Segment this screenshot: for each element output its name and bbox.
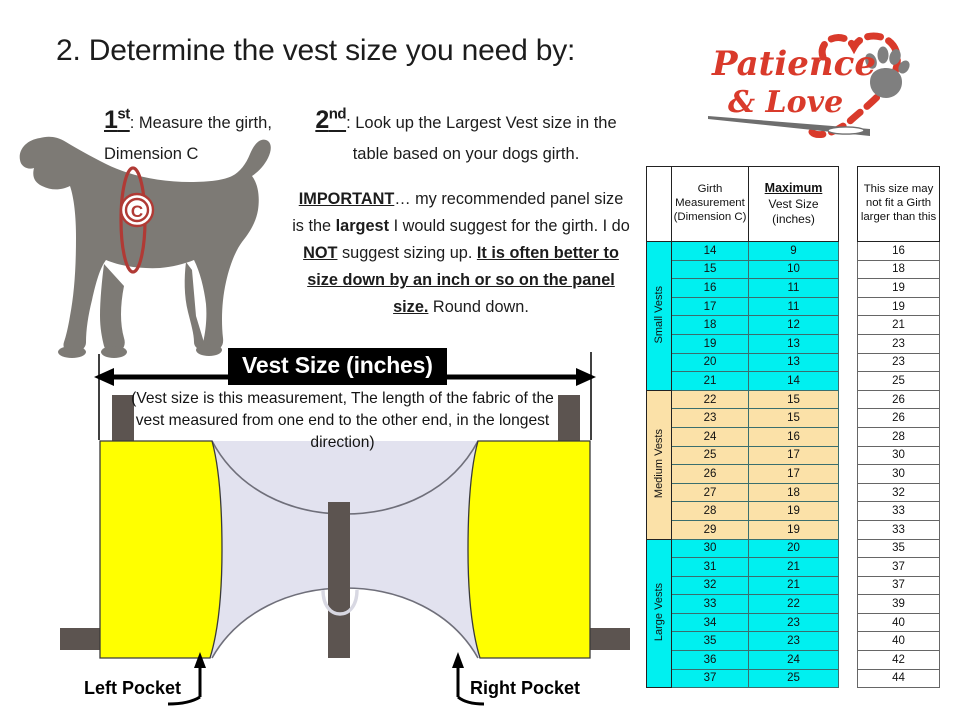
table-row[interactable]: 201323 — [647, 353, 940, 372]
table-row[interactable]: 342340 — [647, 613, 940, 632]
vest-category-large-vests: Large Vests — [647, 539, 672, 688]
logo-text-line-1: Patience — [711, 44, 876, 84]
vest-category-medium-vests: Medium Vests — [647, 390, 672, 539]
cell-vest-size: 19 — [749, 520, 839, 539]
cell-girth: 14 — [672, 242, 749, 261]
dimension-c-badge: C — [121, 194, 153, 226]
cell-girth: 17 — [672, 297, 749, 316]
vest-center-strap — [328, 502, 350, 658]
cell-vest-size: 16 — [749, 427, 839, 446]
cell-girth: 31 — [672, 558, 749, 577]
page-title: 2. Determine the vest size you need by: — [56, 34, 575, 68]
cell-girth: 23 — [672, 409, 749, 428]
vest-size-note: (Vest size is this measurement, The leng… — [130, 388, 555, 454]
cell-spacer — [839, 409, 858, 428]
cell-girth: 35 — [672, 632, 749, 651]
table-row[interactable]: 181221 — [647, 316, 940, 335]
cell-girth: 15 — [672, 260, 749, 279]
cell-vest-size: 13 — [749, 334, 839, 353]
table-row[interactable]: Medium Vests221526 — [647, 390, 940, 409]
cell-spacer — [839, 427, 858, 446]
cell-girth: 32 — [672, 576, 749, 595]
cell-vest-size: 18 — [749, 483, 839, 502]
table-row[interactable]: 322137 — [647, 576, 940, 595]
table-row[interactable]: 271832 — [647, 483, 940, 502]
cell-spacer — [839, 242, 858, 261]
table-row[interactable]: 211425 — [647, 372, 940, 391]
cell-max-girth: 26 — [858, 409, 940, 428]
cell-girth: 36 — [672, 651, 749, 670]
cell-girth: 28 — [672, 502, 749, 521]
cell-spacer — [839, 632, 858, 651]
table-row[interactable]: 291933 — [647, 520, 940, 539]
cell-max-girth: 40 — [858, 613, 940, 632]
header-category — [647, 167, 672, 242]
cell-vest-size: 23 — [749, 613, 839, 632]
cell-vest-size: 10 — [749, 260, 839, 279]
cell-vest-size: 21 — [749, 558, 839, 577]
cell-vest-size: 11 — [749, 279, 839, 298]
vest-right-panel — [468, 441, 590, 658]
cell-vest-size: 23 — [749, 632, 839, 651]
cell-girth: 34 — [672, 613, 749, 632]
cell-girth: 37 — [672, 669, 749, 688]
cell-spacer — [839, 651, 858, 670]
table-header-row: Girth Measurement (Dimension C)MaximumVe… — [647, 167, 940, 242]
cell-spacer — [839, 353, 858, 372]
cell-max-girth: 18 — [858, 260, 940, 279]
category-label: Large Vests — [653, 583, 665, 641]
table-row[interactable]: 161119 — [647, 279, 940, 298]
cell-max-girth: 30 — [858, 446, 940, 465]
cell-max-girth: 30 — [858, 465, 940, 484]
cell-max-girth: 26 — [858, 390, 940, 409]
cell-max-girth: 19 — [858, 297, 940, 316]
cell-max-girth: 25 — [858, 372, 940, 391]
cell-spacer — [839, 465, 858, 484]
cell-max-girth: 44 — [858, 669, 940, 688]
cell-vest-size: 24 — [749, 651, 839, 670]
table-row[interactable]: Small Vests14916 — [647, 242, 940, 261]
table-row[interactable]: 261730 — [647, 465, 940, 484]
vest-size-banner: Vest Size (inches) — [228, 348, 447, 385]
cell-spacer — [839, 520, 858, 539]
sizing-table-container: Girth Measurement (Dimension C)MaximumVe… — [646, 166, 940, 688]
cell-vest-size: 19 — [749, 502, 839, 521]
header-maximum-word: Maximum — [749, 181, 838, 197]
table-row[interactable]: 151018 — [647, 260, 940, 279]
cell-girth: 25 — [672, 446, 749, 465]
table-row[interactable]: 352340 — [647, 632, 940, 651]
cell-max-girth: 35 — [858, 539, 940, 558]
cell-max-girth: 21 — [858, 316, 940, 335]
cell-spacer — [839, 260, 858, 279]
cell-spacer — [839, 446, 858, 465]
cell-max-girth: 40 — [858, 632, 940, 651]
logo-text-line-2: & Love — [728, 85, 843, 120]
cell-spacer — [839, 539, 858, 558]
cell-girth: 19 — [672, 334, 749, 353]
category-label: Medium Vests — [653, 429, 665, 498]
cell-girth: 27 — [672, 483, 749, 502]
table-row[interactable]: 332239 — [647, 595, 940, 614]
cell-girth: 20 — [672, 353, 749, 372]
cell-vest-size: 15 — [749, 409, 839, 428]
vest-category-small-vests: Small Vests — [647, 242, 672, 391]
cell-vest-size: 21 — [749, 576, 839, 595]
cell-girth: 24 — [672, 427, 749, 446]
slide-canvas: 2. Determine the vest size you need by: … — [0, 0, 960, 720]
strap-bottom-right — [584, 628, 630, 650]
cell-spacer — [839, 297, 858, 316]
cell-max-girth: 23 — [858, 353, 940, 372]
cell-vest-size: 14 — [749, 372, 839, 391]
cell-max-girth: 19 — [858, 279, 940, 298]
cell-vest-size: 12 — [749, 316, 839, 335]
cell-max-girth: 33 — [858, 502, 940, 521]
important-largest: largest — [336, 217, 389, 235]
brand-logo: Patience & Love Patience & Love — [694, 20, 944, 140]
cell-girth: 29 — [672, 520, 749, 539]
header-girth-limit-note: This size may not fit a Girth larger tha… — [858, 167, 940, 242]
table-row[interactable]: 312137 — [647, 558, 940, 577]
cell-max-girth: 37 — [858, 558, 940, 577]
cell-spacer — [839, 390, 858, 409]
cell-max-girth: 32 — [858, 483, 940, 502]
table-row[interactable]: 241628 — [647, 427, 940, 446]
left-pocket-label: Left Pocket — [84, 678, 181, 699]
important-line-2: I would suggest for the girth. I do — [389, 217, 630, 235]
cell-max-girth: 28 — [858, 427, 940, 446]
sizing-table: Girth Measurement (Dimension C)MaximumVe… — [646, 166, 940, 688]
cell-vest-size: 20 — [749, 539, 839, 558]
important-lead: IMPORTANT — [299, 190, 395, 208]
cell-max-girth: 37 — [858, 576, 940, 595]
step-2-text: : Look up the Largest Vest size in the t… — [346, 114, 617, 163]
table-row[interactable]: 231526 — [647, 409, 940, 428]
cell-vest-size: 9 — [749, 242, 839, 261]
important-note: IMPORTANT… my recommended panel size is … — [292, 186, 630, 321]
cell-spacer — [839, 316, 858, 335]
table-row[interactable]: Large Vests302035 — [647, 539, 940, 558]
svg-text:C: C — [131, 202, 143, 221]
right-pocket-label: Right Pocket — [470, 678, 580, 699]
strap-tab-top-right — [558, 395, 580, 441]
header-vest-size-text: Vest Size (inches) — [749, 197, 838, 227]
cell-max-girth: 39 — [858, 595, 940, 614]
table-row[interactable]: 171119 — [647, 297, 940, 316]
table-row[interactable]: 191323 — [647, 334, 940, 353]
table-row[interactable]: 251730 — [647, 446, 940, 465]
cell-spacer — [839, 669, 858, 688]
header-girth-measurement: Girth Measurement (Dimension C) — [672, 167, 749, 242]
cell-vest-size: 15 — [749, 390, 839, 409]
header-spacer — [839, 167, 858, 242]
important-line-3: suggest sizing up. — [337, 244, 476, 262]
cell-vest-size: 22 — [749, 595, 839, 614]
cell-max-girth: 42 — [858, 651, 940, 670]
cell-vest-size: 17 — [749, 465, 839, 484]
cell-spacer — [839, 502, 858, 521]
step-2-instruction: 2nd: Look up the Largest Vest size in th… — [296, 100, 636, 168]
cell-girth: 22 — [672, 390, 749, 409]
cell-vest-size: 17 — [749, 446, 839, 465]
cell-girth: 18 — [672, 316, 749, 335]
cell-girth: 21 — [672, 372, 749, 391]
cell-max-girth: 23 — [858, 334, 940, 353]
important-line-4: Round down. — [428, 298, 528, 316]
dog-body-shape — [20, 137, 271, 353]
table-row[interactable]: 372544 — [647, 669, 940, 688]
vest-left-panel — [100, 441, 222, 658]
cell-spacer — [839, 483, 858, 502]
cell-girth: 33 — [672, 595, 749, 614]
table-row[interactable]: 281933 — [647, 502, 940, 521]
cell-vest-size: 25 — [749, 669, 839, 688]
cell-spacer — [839, 613, 858, 632]
cell-girth: 26 — [672, 465, 749, 484]
category-label: Small Vests — [653, 286, 665, 343]
cell-max-girth: 16 — [858, 242, 940, 261]
step-2-ordinal: 2nd — [315, 106, 346, 134]
cell-spacer — [839, 372, 858, 391]
cell-vest-size: 11 — [749, 297, 839, 316]
cell-girth: 16 — [672, 279, 749, 298]
cell-spacer — [839, 334, 858, 353]
table-row[interactable]: 362442 — [647, 651, 940, 670]
important-not: NOT — [303, 244, 337, 262]
cell-max-girth: 33 — [858, 520, 940, 539]
cell-vest-size: 13 — [749, 353, 839, 372]
cell-spacer — [839, 279, 858, 298]
cell-girth: 30 — [672, 539, 749, 558]
cell-spacer — [839, 595, 858, 614]
cell-spacer — [839, 576, 858, 595]
header-max-vest-size: MaximumVest Size (inches) — [749, 167, 839, 242]
cell-spacer — [839, 558, 858, 577]
